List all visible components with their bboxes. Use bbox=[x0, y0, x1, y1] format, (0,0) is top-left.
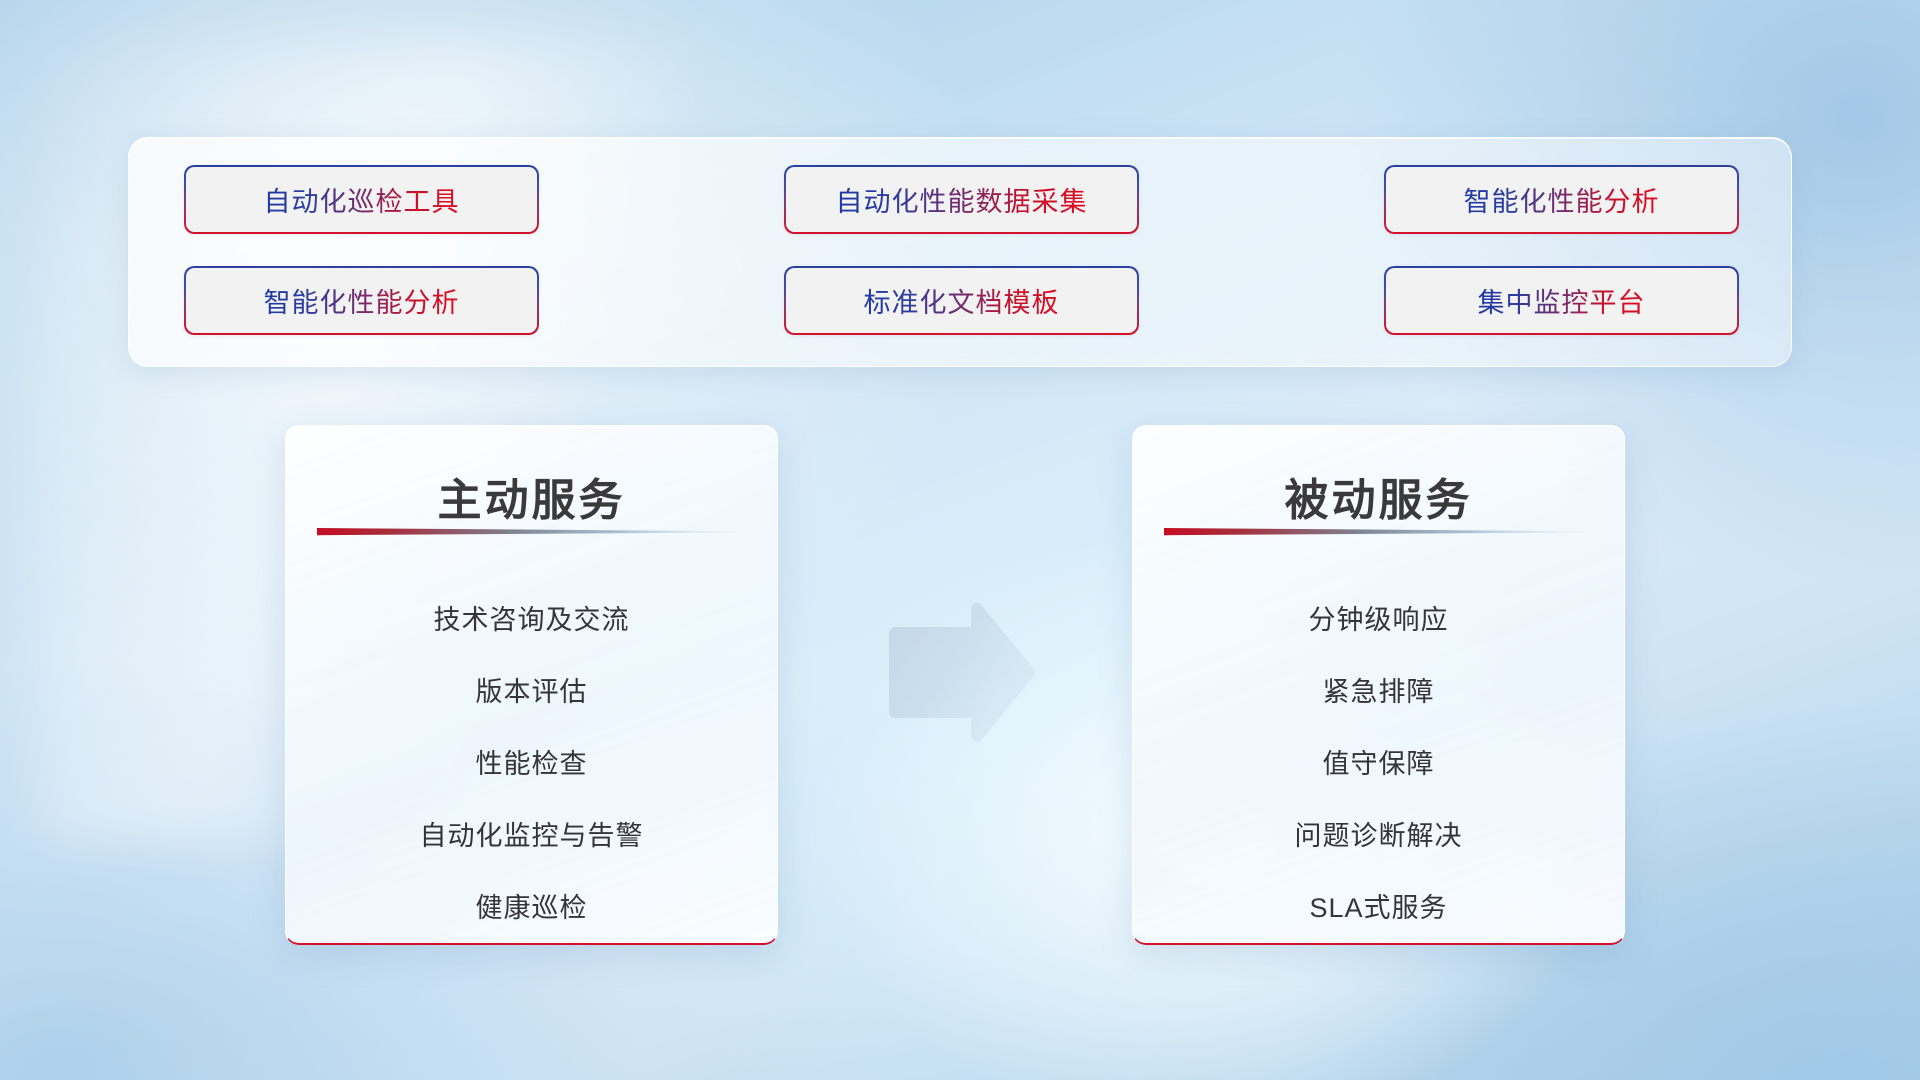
list-item[interactable]: 技术咨询及交流 bbox=[286, 584, 777, 656]
card-active-service[interactable]: 主动服务 技术咨询及交流 版本评估 性能检查 自动化监控与告警 健康巡检 bbox=[285, 425, 778, 945]
capability-panel: 自动化巡检工具 自动化性能数据采集 智能化性能分析 智能化性能分析 标准化文档模… bbox=[128, 137, 1792, 367]
list-item[interactable]: 值守保障 bbox=[1133, 728, 1624, 800]
capability-pill-2[interactable]: 自动化性能数据采集 bbox=[784, 165, 1139, 234]
capability-pill-grid: 自动化巡检工具 自动化性能数据采集 智能化性能分析 智能化性能分析 标准化文档模… bbox=[184, 165, 1740, 335]
capability-pill-label: 自动化性能数据采集 bbox=[836, 180, 1088, 219]
capability-pill-4[interactable]: 智能化性能分析 bbox=[184, 266, 539, 335]
list-item[interactable]: SLA式服务 bbox=[1133, 872, 1624, 944]
card-divider-icon bbox=[317, 526, 751, 536]
capability-pill-3[interactable]: 智能化性能分析 bbox=[1384, 165, 1739, 234]
list-item[interactable]: 版本评估 bbox=[286, 656, 777, 728]
list-item[interactable]: 问题诊断解决 bbox=[1133, 800, 1624, 872]
capability-pill-label: 标准化文档模板 bbox=[864, 281, 1060, 320]
capability-pill-label: 集中监控平台 bbox=[1478, 281, 1646, 320]
list-item[interactable]: 紧急排障 bbox=[1133, 656, 1624, 728]
list-item[interactable]: 分钟级响应 bbox=[1133, 584, 1624, 656]
capability-pill-label: 自动化巡检工具 bbox=[264, 180, 460, 219]
card-service-list: 分钟级响应 紧急排障 值守保障 问题诊断解决 SLA式服务 bbox=[1133, 584, 1624, 944]
capability-pill-label: 智能化性能分析 bbox=[1464, 180, 1660, 219]
card-service-list: 技术咨询及交流 版本评估 性能检查 自动化监控与告警 健康巡检 bbox=[286, 584, 777, 944]
capability-pill-6[interactable]: 集中监控平台 bbox=[1384, 266, 1739, 335]
list-item[interactable]: 健康巡检 bbox=[286, 872, 777, 944]
list-item[interactable]: 性能检查 bbox=[286, 728, 777, 800]
card-passive-service[interactable]: 被动服务 分钟级响应 紧急排障 值守保障 问题诊断解决 SLA式服务 bbox=[1132, 425, 1625, 945]
list-item[interactable]: 自动化监控与告警 bbox=[286, 800, 777, 872]
right-arrow-icon bbox=[883, 603, 1038, 742]
capability-pill-5[interactable]: 标准化文档模板 bbox=[784, 266, 1139, 335]
capability-pill-label: 智能化性能分析 bbox=[264, 281, 460, 320]
card-title: 主动服务 bbox=[286, 464, 777, 528]
card-title: 被动服务 bbox=[1133, 464, 1624, 528]
capability-pill-1[interactable]: 自动化巡检工具 bbox=[184, 165, 539, 234]
card-divider-icon bbox=[1164, 526, 1598, 536]
